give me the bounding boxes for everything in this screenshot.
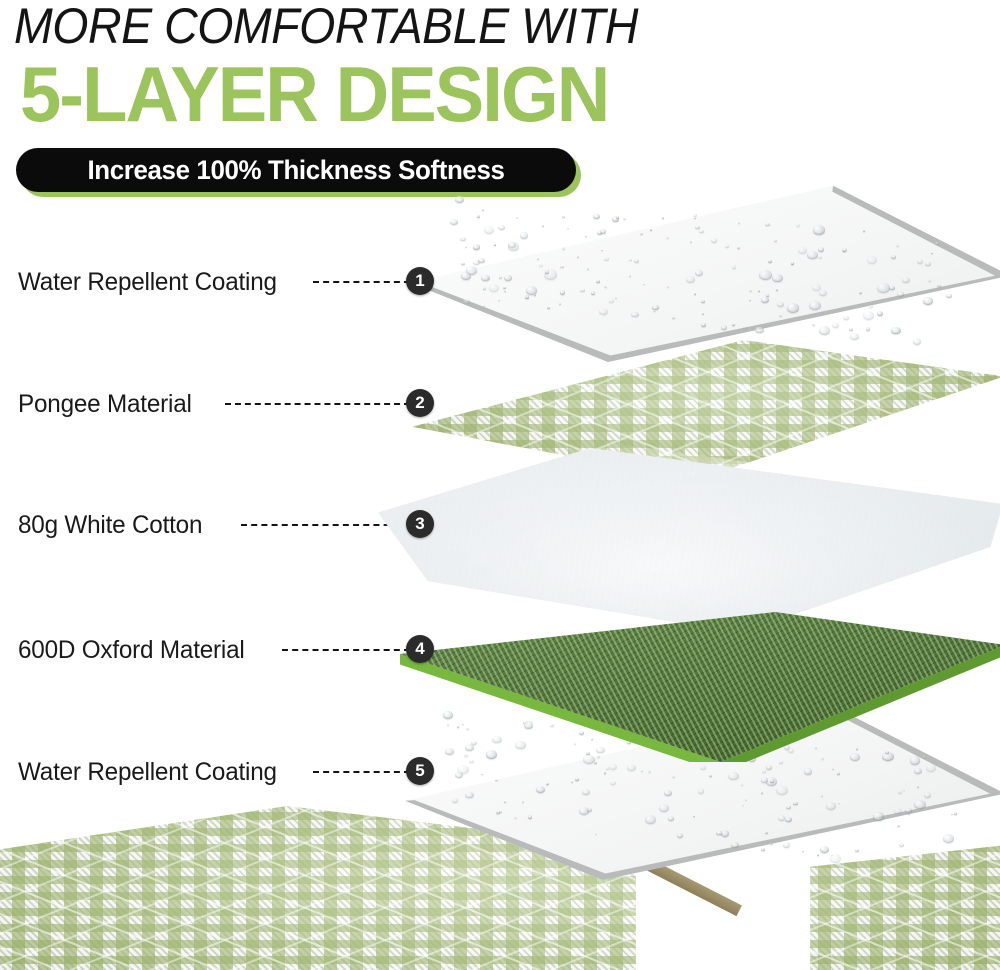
water-droplet bbox=[514, 817, 517, 819]
layer-3-number-badge: 3 bbox=[406, 510, 434, 538]
water-droplet bbox=[460, 237, 465, 241]
layer-5-label: Water Repellent Coating bbox=[18, 758, 277, 787]
water-droplet bbox=[672, 776, 675, 778]
water-droplet bbox=[701, 323, 706, 327]
water-droplet bbox=[728, 772, 739, 780]
water-droplet bbox=[695, 226, 700, 230]
water-droplet bbox=[522, 801, 524, 803]
water-droplet bbox=[615, 297, 617, 299]
layer-1-label: Water Repellent Coating bbox=[18, 268, 277, 297]
water-droplet bbox=[699, 230, 703, 233]
water-droplet bbox=[478, 258, 485, 263]
water-droplet bbox=[779, 315, 782, 317]
water-droplet bbox=[826, 802, 836, 810]
water-droplet bbox=[791, 262, 795, 265]
water-droplet bbox=[579, 807, 588, 814]
water-droplet bbox=[877, 283, 890, 293]
water-droplet bbox=[798, 247, 807, 254]
water-droplet bbox=[690, 241, 692, 243]
water-droplet bbox=[819, 326, 830, 334]
water-droplet bbox=[914, 800, 926, 809]
water-droplet bbox=[693, 214, 698, 218]
water-droplet bbox=[534, 294, 536, 296]
water-droplet bbox=[560, 266, 563, 269]
water-droplet bbox=[585, 236, 587, 238]
water-droplet bbox=[686, 276, 695, 283]
water-droplet bbox=[709, 775, 712, 778]
water-droplet bbox=[832, 768, 834, 770]
water-droplet bbox=[731, 842, 739, 848]
water-droplet bbox=[897, 825, 900, 827]
water-droplet bbox=[923, 297, 933, 305]
water-droplet bbox=[737, 247, 740, 249]
water-droplet bbox=[645, 815, 657, 824]
water-droplet bbox=[629, 275, 631, 277]
water-droplet bbox=[693, 816, 695, 818]
water-droplet bbox=[634, 259, 639, 263]
water-droplet bbox=[484, 226, 494, 234]
headline-secondary: 5-LAYER DESIGN bbox=[20, 52, 608, 136]
layer-1-leader-line bbox=[313, 281, 410, 283]
water-droplet bbox=[597, 231, 602, 235]
water-droplet bbox=[765, 223, 770, 227]
water-droplet bbox=[809, 301, 821, 310]
water-droplet bbox=[804, 768, 812, 774]
layer-5-number-badge: 5 bbox=[406, 757, 434, 785]
water-droplet bbox=[819, 290, 827, 296]
water-droplet bbox=[926, 764, 936, 772]
water-droplet bbox=[594, 762, 597, 764]
water-droplet bbox=[931, 253, 933, 255]
water-droplet bbox=[749, 300, 751, 302]
water-droplet bbox=[743, 326, 747, 329]
water-droplet bbox=[489, 284, 499, 292]
water-droplet bbox=[652, 305, 659, 310]
water-droplet bbox=[582, 789, 589, 795]
water-droplet bbox=[546, 783, 548, 785]
water-droplet bbox=[653, 311, 655, 313]
layer-2-leader-line bbox=[225, 403, 410, 405]
water-droplet bbox=[465, 792, 473, 799]
water-droplet bbox=[725, 245, 729, 248]
water-droplet bbox=[525, 295, 530, 299]
water-droplet bbox=[758, 290, 760, 292]
water-droplet bbox=[711, 238, 718, 243]
water-droplet bbox=[749, 290, 752, 292]
layer-1-water-repellent-sheet bbox=[410, 182, 1000, 362]
water-droplet bbox=[849, 328, 853, 331]
water-droplet bbox=[648, 770, 652, 773]
water-droplet bbox=[951, 814, 953, 816]
water-droplet bbox=[843, 316, 849, 321]
water-droplet bbox=[627, 764, 636, 771]
layer-1-water-droplets bbox=[410, 182, 1000, 362]
water-droplet bbox=[695, 270, 703, 276]
layer-2-label: Pongee Material bbox=[18, 390, 192, 419]
water-droplet bbox=[450, 219, 458, 225]
water-droplet bbox=[473, 244, 480, 250]
water-droplet bbox=[539, 264, 543, 267]
water-droplet bbox=[812, 324, 815, 327]
water-droplet bbox=[599, 308, 608, 315]
water-droplet bbox=[898, 791, 902, 794]
water-droplet bbox=[504, 291, 506, 293]
water-droplet bbox=[742, 805, 744, 807]
water-droplet bbox=[894, 808, 902, 814]
water-droplet bbox=[935, 242, 939, 245]
water-droplet bbox=[559, 303, 561, 305]
water-droplet bbox=[738, 222, 740, 224]
water-droplet bbox=[677, 833, 684, 838]
water-droplet bbox=[643, 284, 645, 286]
layer-5-leader-line bbox=[313, 771, 410, 773]
water-droplet bbox=[863, 311, 874, 320]
water-droplet bbox=[818, 247, 824, 252]
water-droplet bbox=[609, 764, 617, 770]
water-droplet bbox=[813, 225, 826, 235]
water-droplet bbox=[610, 781, 616, 786]
water-droplet bbox=[855, 849, 859, 852]
water-droplet bbox=[762, 770, 766, 773]
water-droplet bbox=[838, 803, 840, 805]
water-droplet bbox=[925, 262, 931, 266]
water-droplet bbox=[863, 230, 865, 232]
water-droplet bbox=[869, 305, 873, 308]
water-droplet bbox=[741, 784, 743, 786]
water-droplet bbox=[776, 786, 788, 795]
water-droplet bbox=[745, 799, 747, 801]
water-droplet bbox=[498, 300, 500, 302]
water-droplet bbox=[928, 280, 930, 282]
water-droplet bbox=[896, 244, 900, 247]
water-droplet bbox=[761, 777, 768, 782]
water-droplet bbox=[701, 300, 706, 304]
water-droplet bbox=[820, 846, 829, 853]
water-droplet bbox=[483, 305, 486, 307]
layer-2-number-badge: 2 bbox=[406, 389, 434, 417]
water-droplet bbox=[461, 263, 465, 266]
water-droplet bbox=[818, 256, 822, 259]
water-droplet bbox=[768, 260, 772, 263]
water-droplet bbox=[455, 196, 464, 203]
water-droplet bbox=[580, 289, 584, 292]
water-droplet bbox=[783, 842, 790, 848]
water-droplet bbox=[667, 286, 669, 288]
water-droplet bbox=[812, 284, 821, 291]
infographic-canvas: MORE COMFORTABLE WITH 5-LAYER DESIGN Inc… bbox=[0, 0, 1000, 970]
water-droplet bbox=[903, 790, 905, 792]
layer-4-oxford-sheet bbox=[400, 612, 1000, 762]
water-droplet bbox=[562, 216, 565, 219]
water-droplet bbox=[774, 240, 777, 242]
water-droplet bbox=[571, 781, 573, 783]
water-droplet bbox=[877, 311, 883, 316]
water-droplet bbox=[721, 325, 728, 330]
water-droplet bbox=[494, 244, 496, 246]
water-droplet bbox=[591, 291, 596, 295]
water-droplet bbox=[830, 854, 841, 863]
water-droplet bbox=[732, 265, 736, 268]
water-droplet bbox=[567, 228, 569, 230]
water-droplet bbox=[477, 215, 481, 218]
water-droplet bbox=[623, 218, 626, 220]
water-droplet bbox=[914, 768, 922, 774]
water-droplet bbox=[604, 257, 609, 261]
water-droplet bbox=[793, 802, 797, 805]
water-droplet bbox=[850, 333, 858, 340]
water-droplet bbox=[698, 788, 704, 793]
water-droplet bbox=[666, 237, 669, 239]
water-droplet bbox=[899, 843, 904, 847]
water-droplet bbox=[650, 229, 652, 231]
water-droplet bbox=[770, 779, 774, 782]
water-droplet bbox=[662, 217, 665, 219]
water-droplet bbox=[821, 795, 823, 797]
water-droplet bbox=[891, 327, 901, 334]
water-droplet bbox=[732, 324, 735, 326]
water-droplet bbox=[508, 242, 519, 250]
water-droplet bbox=[668, 816, 674, 821]
water-droplet bbox=[641, 770, 643, 772]
water-droplet bbox=[761, 297, 769, 303]
water-droplet bbox=[700, 765, 706, 770]
layer-4-label: 600D Oxford Material bbox=[18, 636, 245, 665]
layer-1-number-badge: 1 bbox=[406, 267, 434, 295]
water-droplet bbox=[837, 772, 841, 775]
water-droplet bbox=[609, 299, 613, 302]
water-droplet bbox=[777, 302, 784, 308]
water-droplet bbox=[766, 765, 772, 770]
water-droplet bbox=[545, 270, 549, 273]
water-droplet bbox=[461, 272, 471, 280]
water-droplet bbox=[786, 806, 790, 809]
water-droplet bbox=[595, 834, 597, 836]
water-droplet bbox=[547, 307, 550, 309]
water-droplet bbox=[917, 259, 923, 264]
water-droplet bbox=[604, 772, 606, 774]
water-droplet bbox=[702, 313, 704, 315]
water-droplet bbox=[770, 843, 773, 846]
water-droplet bbox=[943, 834, 954, 842]
water-droplet bbox=[859, 292, 862, 295]
water-droplet bbox=[640, 233, 642, 235]
water-droplet bbox=[526, 286, 537, 294]
water-droplet bbox=[772, 274, 783, 282]
water-droplet bbox=[631, 312, 638, 318]
water-droplet bbox=[616, 216, 619, 218]
water-droplet bbox=[560, 290, 566, 295]
water-droplet bbox=[499, 276, 502, 279]
water-droplet bbox=[937, 285, 940, 287]
water-droplet bbox=[897, 291, 904, 297]
water-droplet bbox=[761, 792, 763, 794]
water-droplet bbox=[542, 225, 544, 227]
water-droplet bbox=[832, 322, 839, 327]
water-droplet bbox=[495, 780, 497, 782]
water-droplet bbox=[902, 277, 910, 284]
water-droplet bbox=[498, 225, 505, 230]
water-droplet bbox=[596, 280, 600, 283]
water-droplet bbox=[817, 854, 819, 856]
layer-3-label: 80g White Cotton bbox=[18, 511, 202, 540]
water-droplet bbox=[694, 293, 697, 295]
water-droplet bbox=[481, 275, 489, 282]
water-droplet bbox=[499, 811, 501, 813]
water-droplet bbox=[520, 232, 529, 239]
water-droplet bbox=[577, 256, 579, 258]
water-droplet bbox=[672, 317, 675, 319]
water-droplet bbox=[867, 256, 877, 264]
water-droplet bbox=[629, 259, 632, 262]
layer-4-number-badge: 4 bbox=[406, 635, 434, 663]
water-droplet bbox=[587, 268, 589, 270]
water-droplet bbox=[905, 808, 911, 813]
water-droplet bbox=[537, 258, 539, 260]
water-droplet bbox=[504, 801, 506, 803]
water-droplet bbox=[528, 815, 532, 818]
water-droplet bbox=[807, 251, 817, 259]
water-droplet bbox=[765, 832, 768, 834]
water-droplet bbox=[785, 817, 791, 822]
water-droplet bbox=[601, 250, 603, 252]
water-droplet bbox=[483, 287, 487, 290]
water-droplet bbox=[755, 327, 763, 334]
water-droplet bbox=[452, 798, 458, 803]
water-droplet bbox=[664, 790, 672, 796]
water-droplet bbox=[463, 299, 470, 305]
water-droplet bbox=[776, 289, 779, 291]
water-droplet bbox=[455, 772, 463, 778]
water-droplet bbox=[796, 224, 800, 227]
water-droplet bbox=[659, 804, 669, 812]
water-droplet bbox=[562, 247, 566, 250]
water-droplet bbox=[778, 815, 785, 821]
water-droplet bbox=[873, 812, 885, 821]
water-droplet bbox=[866, 327, 870, 330]
water-droplet bbox=[593, 214, 599, 219]
water-droplet bbox=[482, 209, 484, 211]
water-droplet bbox=[516, 217, 518, 219]
water-droplet bbox=[761, 848, 765, 851]
water-droplet bbox=[694, 218, 696, 220]
headline-primary: MORE COMFORTABLE WITH bbox=[14, 0, 638, 54]
water-droplet bbox=[759, 270, 772, 280]
water-droplet bbox=[481, 774, 483, 776]
water-droplet bbox=[891, 255, 896, 259]
water-droplet bbox=[843, 250, 845, 252]
water-droplet bbox=[504, 275, 511, 281]
water-droplet bbox=[465, 246, 467, 248]
water-droplet bbox=[536, 786, 545, 793]
water-droplet bbox=[604, 286, 606, 288]
water-droplet bbox=[917, 786, 919, 788]
water-droplet bbox=[802, 851, 804, 853]
water-droplet bbox=[503, 287, 505, 289]
water-droplet bbox=[908, 813, 910, 815]
water-droplet bbox=[954, 812, 957, 814]
water-droplet bbox=[787, 303, 800, 313]
water-droplet bbox=[924, 792, 932, 798]
water-droplet bbox=[721, 830, 729, 837]
water-droplet bbox=[946, 294, 952, 299]
water-droplet bbox=[575, 778, 579, 781]
